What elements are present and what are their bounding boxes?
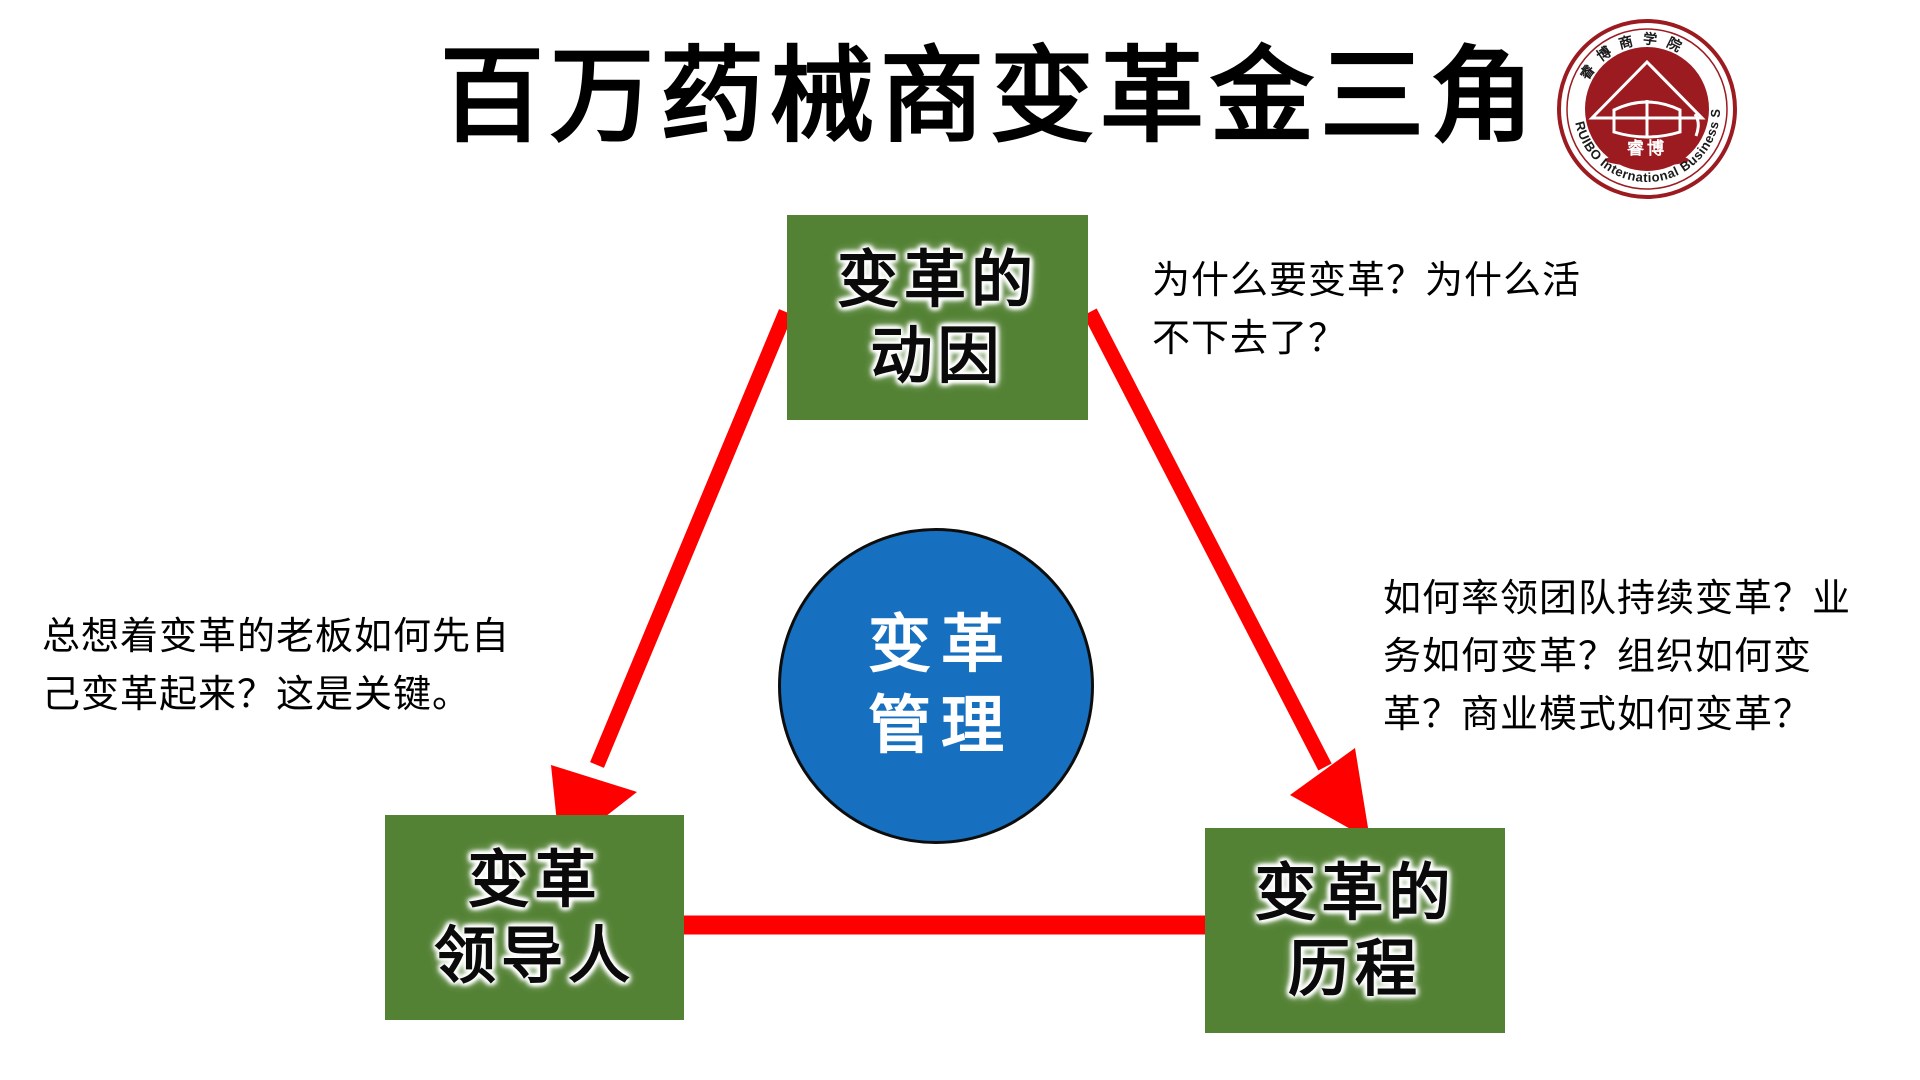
center-line1: 变革	[858, 605, 1014, 686]
node-motive-line1: 变革的	[837, 242, 1038, 318]
node-leader-line1: 变革	[467, 842, 601, 918]
node-journey-line1: 变革的	[1254, 855, 1455, 931]
svg-text:睿博: 睿博	[1627, 138, 1667, 159]
center-circle-change-management[interactable]: 变革 管理	[778, 528, 1094, 844]
node-motive-line2: 动因	[870, 318, 1004, 394]
arrow-motive-to-leader	[551, 312, 786, 852]
node-box-change-motive[interactable]: 变革的 动因	[787, 215, 1088, 420]
slide-canvas: 百万药械商变革金三角 睿博 睿博商学院	[0, 0, 1920, 1080]
annotation-boss-self-change: 总想着变革的老板如何先自己变革起来？这是关键。	[42, 608, 540, 724]
page-title: 百万药械商变革金三角	[440, 38, 1500, 154]
center-line2: 管理	[858, 686, 1014, 767]
node-box-change-leader[interactable]: 变革 领导人	[385, 815, 684, 1020]
arrow-motive-to-journey	[1090, 312, 1370, 840]
annotation-why-change: 为什么要变革？为什么活不下去了？	[1152, 252, 1602, 368]
annotation-how-to-lead-change: 如何率领团队持续变革？业务如何变革？组织如何变革？商业模式如何变革？	[1383, 570, 1853, 743]
ruibo-business-school-logo: 睿博 睿博商学院 RUIBO International Business Sc…	[1552, 14, 1742, 204]
node-box-change-journey[interactable]: 变革的 历程	[1205, 828, 1505, 1033]
node-leader-line2: 领导人	[434, 918, 635, 994]
node-journey-line2: 历程	[1288, 931, 1422, 1007]
